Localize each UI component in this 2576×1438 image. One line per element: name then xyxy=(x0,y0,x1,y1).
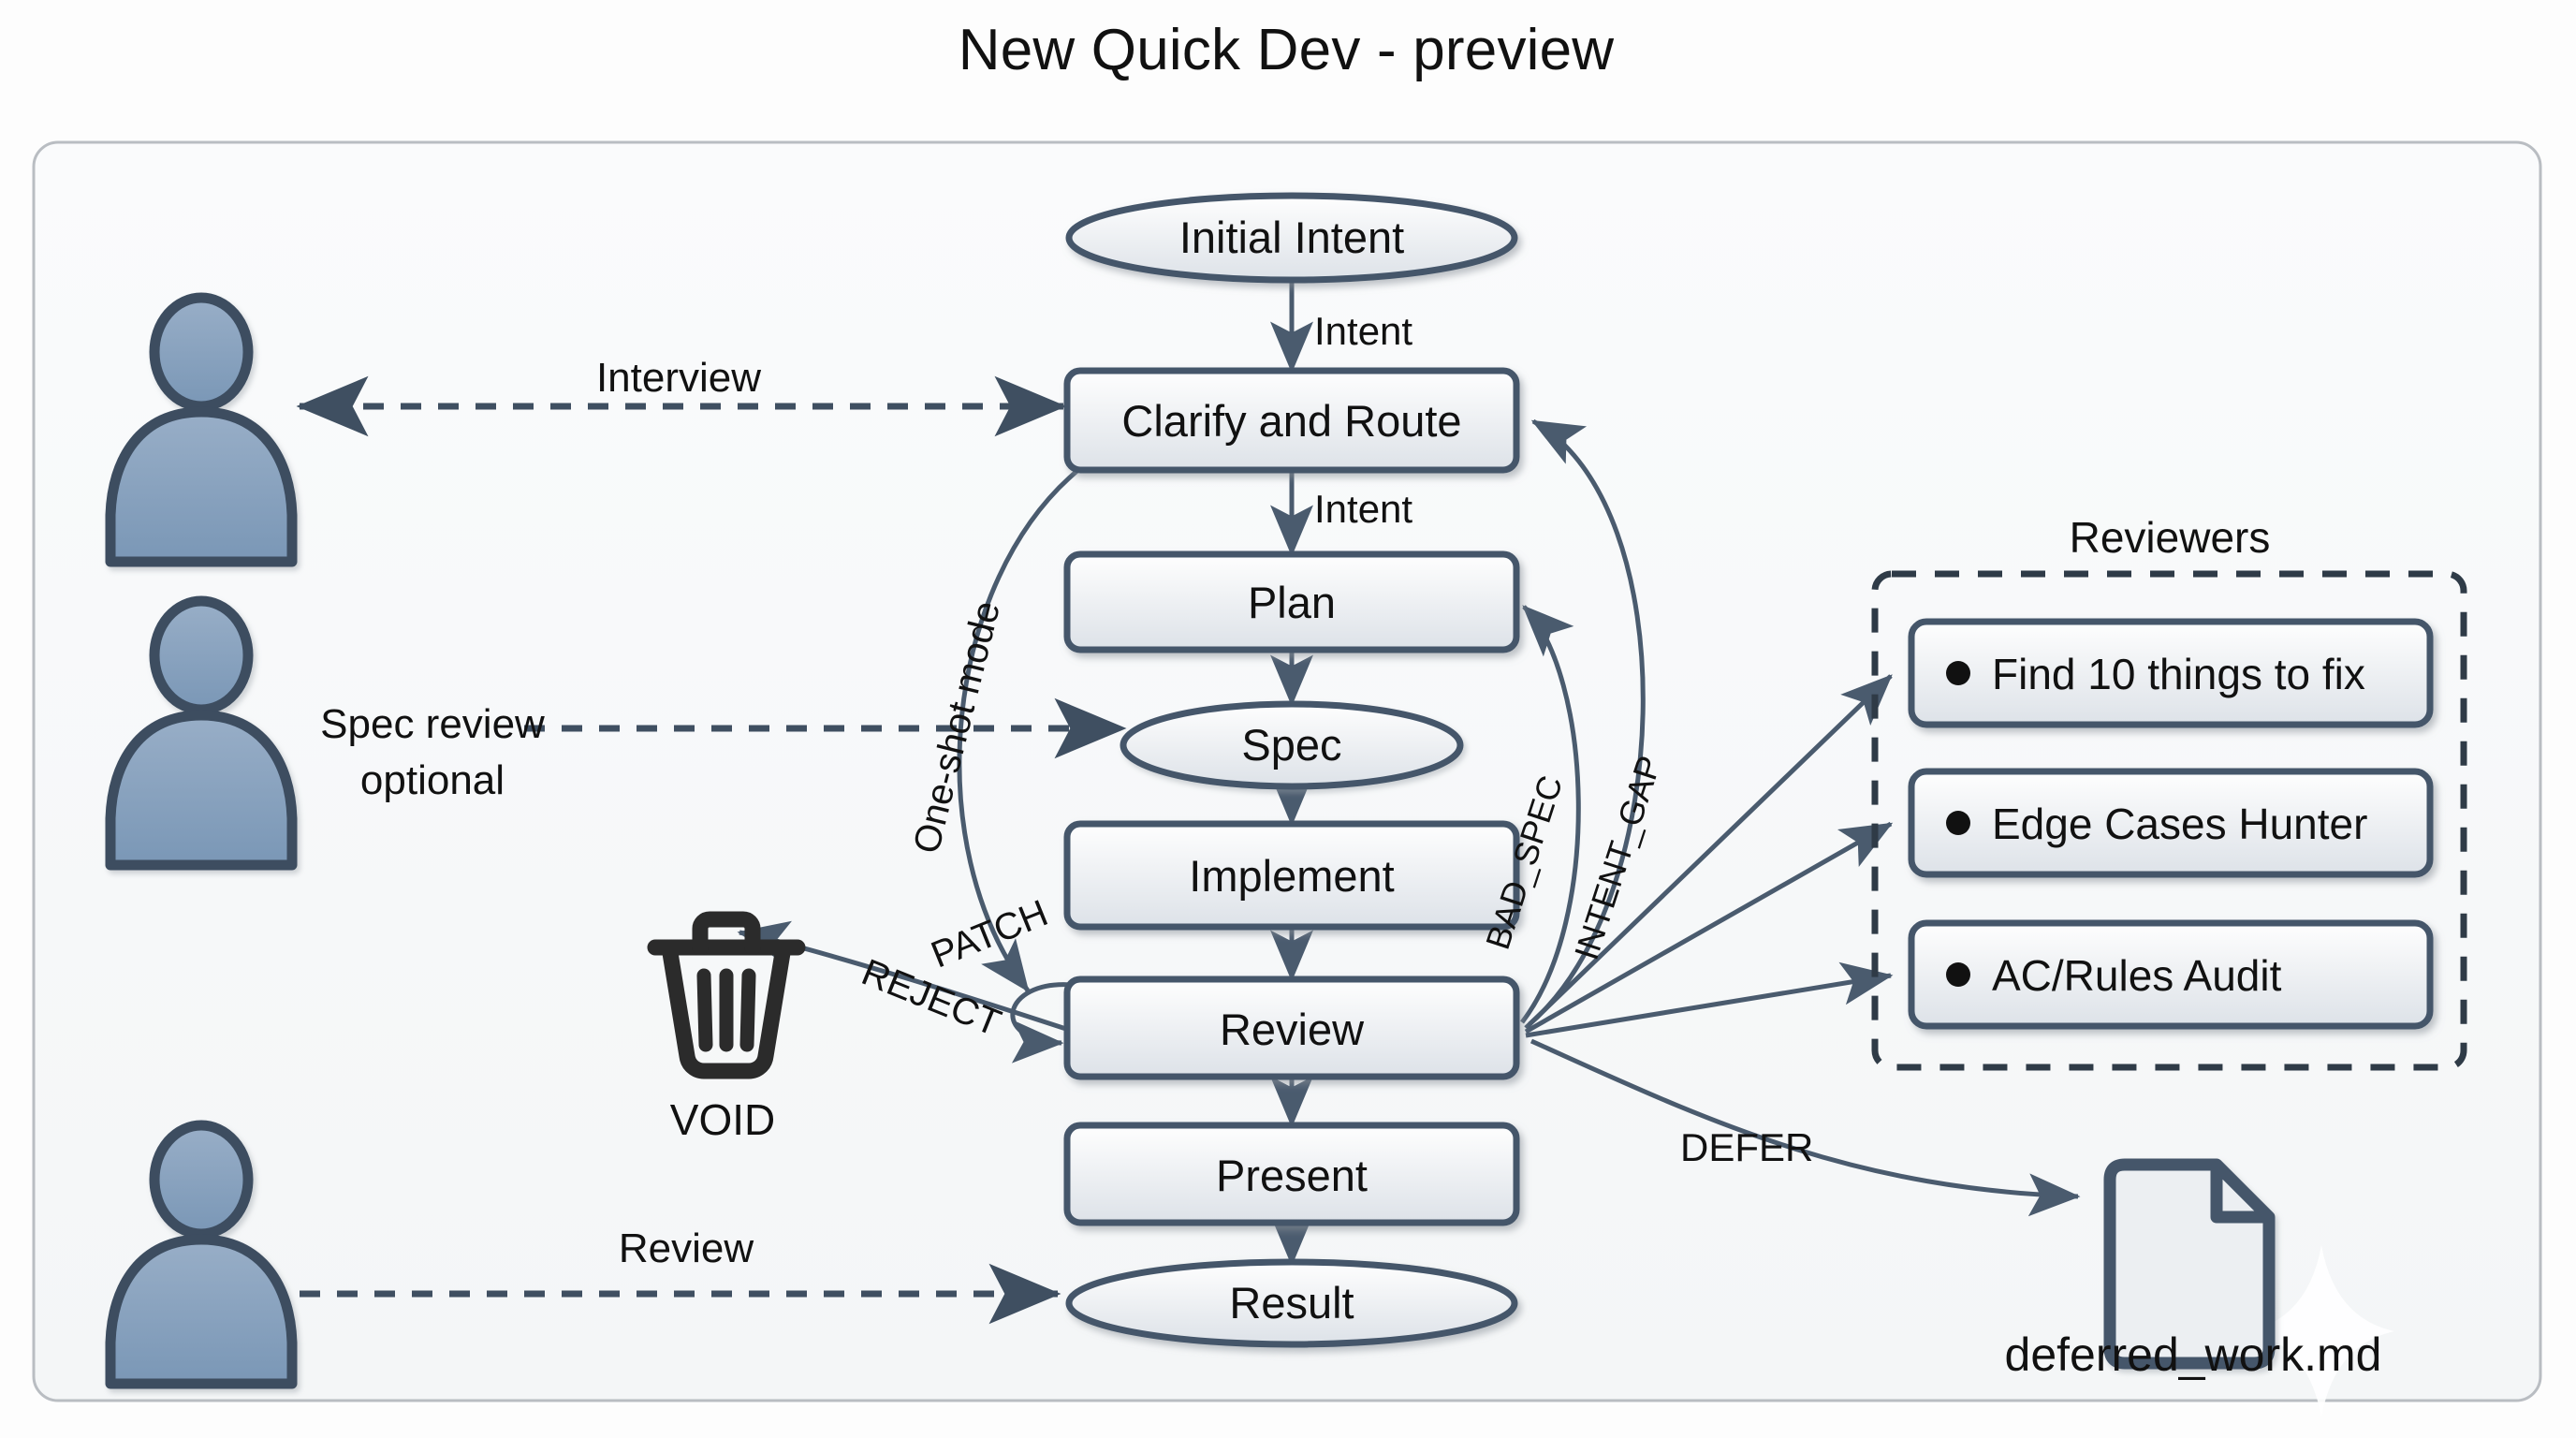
node-implement-label: Implement xyxy=(1189,851,1394,901)
reviewer-item-3-label: AC/Rules Audit xyxy=(1992,951,2282,1000)
edge-label-intent-top: Intent xyxy=(1314,309,1412,353)
reviewer-item-1-label: Find 10 things to fix xyxy=(1992,650,2365,698)
edge-label-intent-mid: Intent xyxy=(1314,487,1412,531)
edge-label-spec-review-line2: optional xyxy=(360,757,505,803)
diagram-canvas: New Quick Dev - preview xyxy=(0,0,2576,1438)
reviewer-item-3-bullet xyxy=(1946,962,1970,987)
node-present-label: Present xyxy=(1216,1151,1368,1200)
reviewer-item-2-bullet xyxy=(1946,811,1970,835)
edge-label-interview: Interview xyxy=(596,355,761,401)
node-clarify-and-route-label: Clarify and Route xyxy=(1121,396,1461,446)
edge-label-defer: DEFER xyxy=(1680,1125,1813,1169)
node-plan-label: Plan xyxy=(1248,578,1336,627)
deferred-work-label: deferred_work.md xyxy=(1917,1328,2469,1382)
node-review-label: Review xyxy=(1220,1005,1365,1054)
node-spec-label: Spec xyxy=(1241,720,1341,770)
edge-label-spec-review-line1: Spec review xyxy=(320,701,545,747)
reviewer-item-2-label: Edge Cases Hunter xyxy=(1992,800,2367,848)
void-label: VOID xyxy=(670,1095,775,1144)
edge-label-result-review: Review xyxy=(619,1225,754,1271)
reviewers-cluster-title: Reviewers xyxy=(2070,513,2271,562)
flow-diagram: Initial Intent Clarify and Route Plan Sp… xyxy=(0,0,2576,1438)
node-result-label: Result xyxy=(1229,1278,1354,1328)
node-initial-intent-label: Initial Intent xyxy=(1179,213,1404,262)
reviewer-item-1-bullet xyxy=(1946,661,1970,685)
